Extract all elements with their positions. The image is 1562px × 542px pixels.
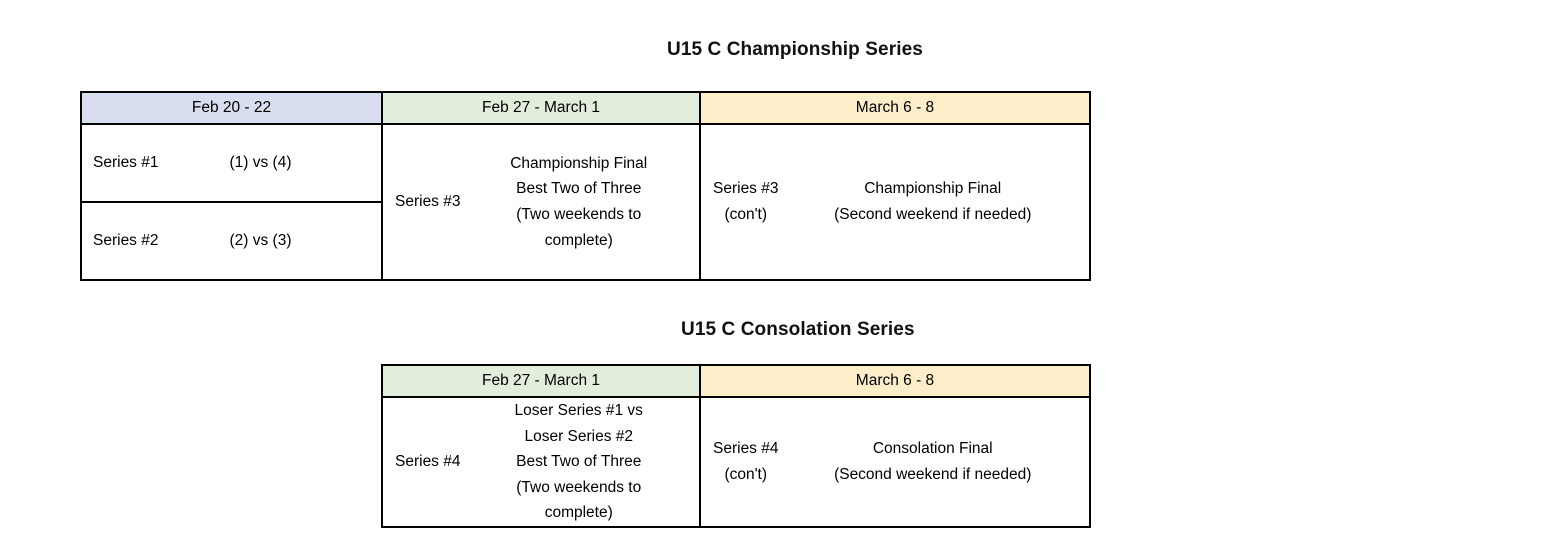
series-1-label: Series #1 <box>82 154 158 172</box>
table-row: Series #1 (1) vs (4) Series #3 Champions… <box>81 124 1090 202</box>
consolation-bracket-table: Feb 27 - March 1 March 6 - 8 Series #4 L… <box>381 364 1091 528</box>
series-3-cont-line-1: Championship Final <box>782 176 1083 202</box>
table-header-row: Feb 20 - 22 Feb 27 - March 1 March 6 - 8 <box>81 92 1090 124</box>
cell-series-4-cont: Series #4 (con't) Consolation Final (Sec… <box>700 397 1090 527</box>
series-3-line-4: complete) <box>464 228 693 254</box>
series-1-matchup: (1) vs (4) <box>158 154 291 172</box>
series-2-label: Series #2 <box>82 232 158 250</box>
header-feb-20-22: Feb 20 - 22 <box>81 92 382 124</box>
cell-series-3-cont: Series #3 (con't) Championship Final (Se… <box>700 124 1090 280</box>
series-3-line-3: (Two weekends to <box>464 202 693 228</box>
cell-series-1: Series #1 (1) vs (4) <box>81 124 382 202</box>
cell-series-4: Series #4 Loser Series #1 vs Loser Serie… <box>382 397 700 527</box>
series-4-line-2: Loser Series #2 <box>464 424 693 450</box>
table-row: Series #4 Loser Series #1 vs Loser Serie… <box>382 397 1090 527</box>
series-4-cont-label: Series #4 (con't) <box>701 436 778 487</box>
table-header-row: Feb 27 - March 1 March 6 - 8 <box>382 365 1090 397</box>
series-3-line-2: Best Two of Three <box>464 176 693 202</box>
schedule-page: U15 C Championship Series Feb 20 - 22 Fe… <box>0 0 1562 542</box>
championship-bracket-table: Feb 20 - 22 Feb 27 - March 1 March 6 - 8… <box>80 91 1091 281</box>
series-3-line-1: Championship Final <box>464 151 693 177</box>
series-3-cont-line-2: (Second weekend if needed) <box>782 202 1083 228</box>
header-feb-27-march-1: Feb 27 - March 1 <box>382 365 700 397</box>
series-4-cont-description: Consolation Final (Second weekend if nee… <box>778 436 1089 487</box>
series-4-line-4: (Two weekends to <box>464 475 693 501</box>
header-march-6-8: March 6 - 8 <box>700 92 1090 124</box>
series-4-cont-note: (con't) <box>713 462 778 488</box>
series-3-cont-note: (con't) <box>713 202 778 228</box>
series-3-cont-label: Series #3 (con't) <box>701 176 778 227</box>
series-4-cont-name: Series #4 <box>713 436 778 462</box>
series-3-cont-name: Series #3 <box>713 176 778 202</box>
series-4-cont-line-1: Consolation Final <box>782 436 1083 462</box>
series-2-matchup: (2) vs (3) <box>158 232 291 250</box>
header-march-6-8: March 6 - 8 <box>700 365 1090 397</box>
cell-series-3: Series #3 Championship Final Best Two of… <box>382 124 700 280</box>
series-4-line-1: Loser Series #1 vs <box>464 398 693 424</box>
series-4-label: Series #4 <box>383 449 460 475</box>
series-3-label: Series #3 <box>383 189 460 215</box>
championship-title: U15 C Championship Series <box>667 39 923 61</box>
series-4-description: Loser Series #1 vs Loser Series #2 Best … <box>460 398 699 526</box>
cell-series-2: Series #2 (2) vs (3) <box>81 202 382 280</box>
consolation-title: U15 C Consolation Series <box>681 319 915 341</box>
series-4-line-5: complete) <box>464 500 693 526</box>
series-3-cont-description: Championship Final (Second weekend if ne… <box>778 176 1089 227</box>
series-4-line-3: Best Two of Three <box>464 449 693 475</box>
header-feb-27-march-1: Feb 27 - March 1 <box>382 92 700 124</box>
series-3-description: Championship Final Best Two of Three (Tw… <box>460 151 699 253</box>
series-4-cont-line-2: (Second weekend if needed) <box>782 462 1083 488</box>
